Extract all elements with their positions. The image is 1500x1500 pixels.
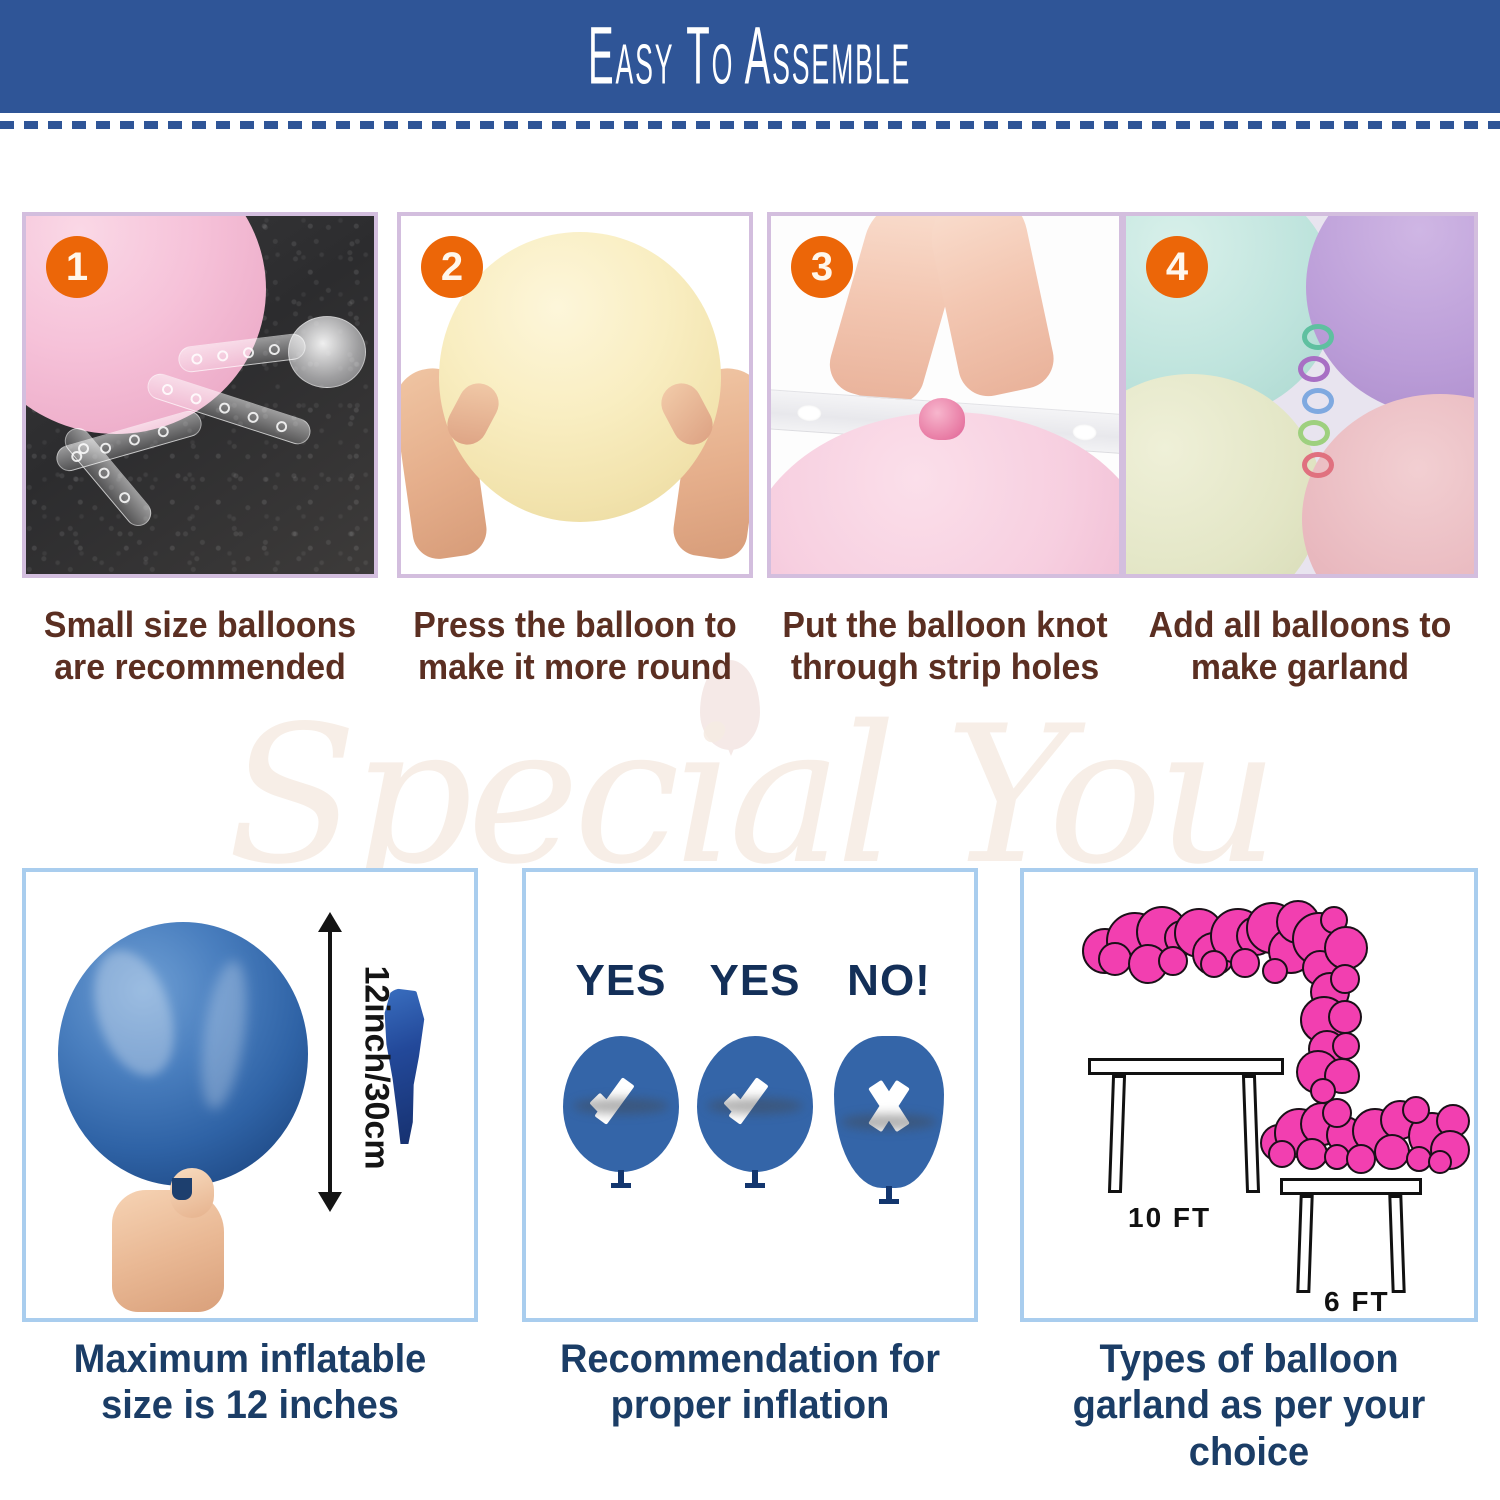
step-badge-4: 4 xyxy=(1146,236,1208,298)
option-label-yes-1: YES xyxy=(558,956,684,1006)
step-badge-2: 2 xyxy=(421,236,483,298)
pink-balloon xyxy=(1302,394,1474,574)
holding-hand xyxy=(112,1190,224,1312)
step-panel-1: 1 xyxy=(22,212,378,578)
balloon-clip xyxy=(1298,356,1330,382)
balloon-clip xyxy=(1302,324,1334,350)
balloon-clip xyxy=(1302,388,1334,414)
inflation-option-2: YES xyxy=(692,956,818,1172)
step-badge-1: 1 xyxy=(46,236,108,298)
balloon-shadow xyxy=(573,1098,669,1114)
step-caption-4: Add all balloons to make garland xyxy=(1123,604,1476,689)
balloon-knot xyxy=(886,1186,892,1204)
option-label-yes-2: YES xyxy=(692,956,818,1006)
balloon-clip xyxy=(1298,420,1330,446)
table-size-label-10ft: 10 FT xyxy=(1128,1202,1211,1234)
step-panel-2: 2 xyxy=(397,212,753,578)
balloon-clip xyxy=(1302,452,1334,478)
dashed-divider xyxy=(0,121,1500,129)
info-caption-1: Maximum inflatable size is 12 inches xyxy=(26,1336,474,1429)
step-badge-3: 3 xyxy=(791,236,853,298)
balloon-neck xyxy=(172,1178,192,1200)
dimension-label: 12inch/30cm xyxy=(357,965,396,1169)
inflation-option-3: NO! xyxy=(826,956,952,1188)
cream-balloon xyxy=(1126,374,1322,574)
max-size-panel: 12inch/30cm xyxy=(22,868,478,1322)
table-size-label-6ft: 6 FT xyxy=(1324,1286,1390,1318)
info-caption-3: Types of balloon garland as per your cho… xyxy=(1012,1336,1485,1475)
inflation-recommendation-panel: YES YES NO! xyxy=(522,868,978,1322)
balloon-knot xyxy=(752,1170,758,1188)
balloon-knot xyxy=(919,398,965,440)
step-caption-1: Small size balloons are recommended xyxy=(23,604,376,689)
balloon-shape-teardrop xyxy=(834,1036,944,1188)
page-title: Easy To Assemble xyxy=(588,10,911,104)
step-panel-3: 3 xyxy=(767,212,1123,578)
dimension-arrow xyxy=(328,930,332,1194)
garland-types-panel: 10 FT 6 FT xyxy=(1020,868,1478,1322)
option-label-no: NO! xyxy=(826,956,952,1006)
info-caption-2: Recommendation for proper inflation xyxy=(524,1336,976,1429)
balloon-shadow xyxy=(841,1114,937,1130)
step-caption-3: Put the balloon knot through strip holes xyxy=(768,604,1121,689)
inflated-blue-balloon xyxy=(58,922,308,1186)
inflation-option-1: YES xyxy=(558,956,684,1172)
step-panel-4: 4 xyxy=(1122,212,1478,578)
header-bar: Easy To Assemble xyxy=(0,0,1500,113)
balloon-shadow xyxy=(707,1098,803,1114)
infographic-page: Easy To Assemble Special You xyxy=(0,0,1500,1500)
balloon-knot xyxy=(618,1170,624,1188)
purple-balloon xyxy=(1306,216,1474,416)
step-caption-2: Press the balloon to make it more round xyxy=(398,604,751,689)
